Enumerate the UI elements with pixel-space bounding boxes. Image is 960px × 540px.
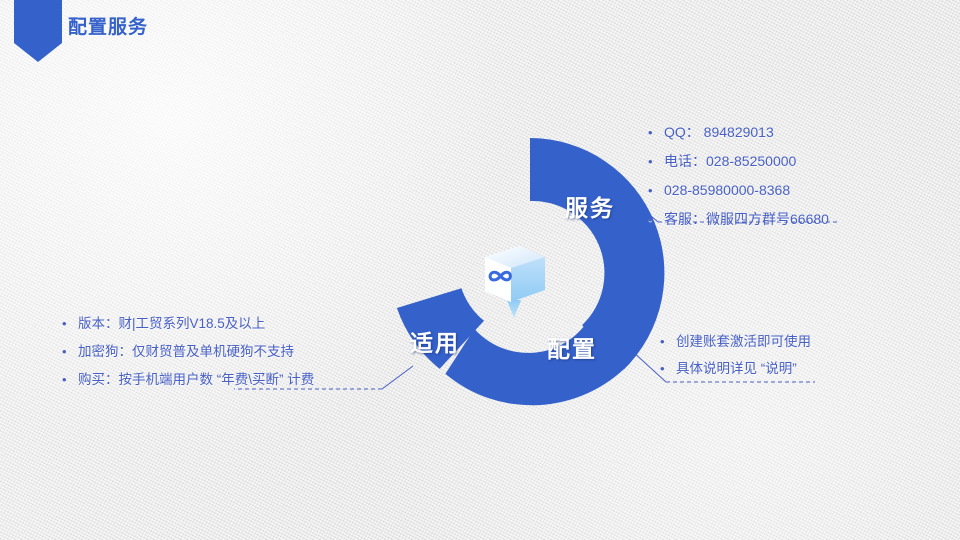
bullet-icon: •: [62, 366, 78, 394]
list-item: • 版本：财|工贸系列V18.5及以上: [62, 310, 314, 338]
bullet-icon: •: [648, 177, 664, 205]
text-block-apply: • 版本：财|工贸系列V18.5及以上 • 加密狗：仅财贸普及单机硬狗不支持 •…: [62, 310, 314, 394]
donut-label-config[interactable]: 配置: [547, 330, 597, 364]
list-item-text: 028-85980000-8368: [664, 176, 790, 204]
bullet-icon: •: [62, 310, 78, 338]
list-item-text: 加密狗：仅财贸普及单机硬狗不支持: [78, 338, 294, 366]
list-item: • 加密狗：仅财贸普及单机硬狗不支持: [62, 338, 314, 366]
list-item-text: 版本：财|工贸系列V18.5及以上: [78, 310, 265, 338]
bullet-icon: •: [660, 355, 676, 382]
list-item: • QQ： 894829013: [648, 118, 829, 147]
list-item-text: 创建账套激活即可使用: [676, 328, 811, 355]
bullet-icon: •: [648, 148, 664, 176]
cube-infinity-icon: [471, 238, 557, 324]
text-block-config: • 创建账套激活即可使用 • 具体说明详见 “说明”: [660, 328, 811, 382]
list-item-text: 客服：微服四方群号66680: [664, 205, 829, 233]
page-title: 配置服务: [68, 12, 148, 39]
title-banner-icon: [14, 0, 62, 62]
list-item: • 购买：按手机端用户数 “年费\买断” 计费: [62, 366, 314, 394]
list-item: • 电话：028-85250000: [648, 147, 829, 176]
list-item-text: 购买：按手机端用户数 “年费\买断” 计费: [78, 366, 314, 394]
text-block-service: • QQ： 894829013 • 电话：028-85250000 • 028-…: [648, 118, 829, 234]
list-item-text: 电话：028-85250000: [664, 147, 796, 175]
bullet-icon: •: [648, 119, 664, 147]
list-item: • 028-85980000-8368: [648, 176, 829, 205]
bullet-icon: •: [62, 338, 78, 366]
list-item: • 客服：微服四方群号66680: [648, 205, 829, 234]
list-item-text: QQ： 894829013: [664, 118, 774, 146]
list-item: • 创建账套激活即可使用: [660, 328, 811, 355]
list-item: • 具体说明详见 “说明”: [660, 355, 811, 382]
donut-label-service[interactable]: 服务: [565, 189, 615, 223]
bullet-icon: •: [648, 206, 664, 234]
list-item-text: 具体说明详见 “说明”: [676, 355, 797, 382]
bullet-icon: •: [660, 328, 676, 355]
donut-label-apply[interactable]: 适用: [410, 324, 460, 358]
slide-canvas: 配置服务 服务 配置 适用: [0, 0, 960, 540]
